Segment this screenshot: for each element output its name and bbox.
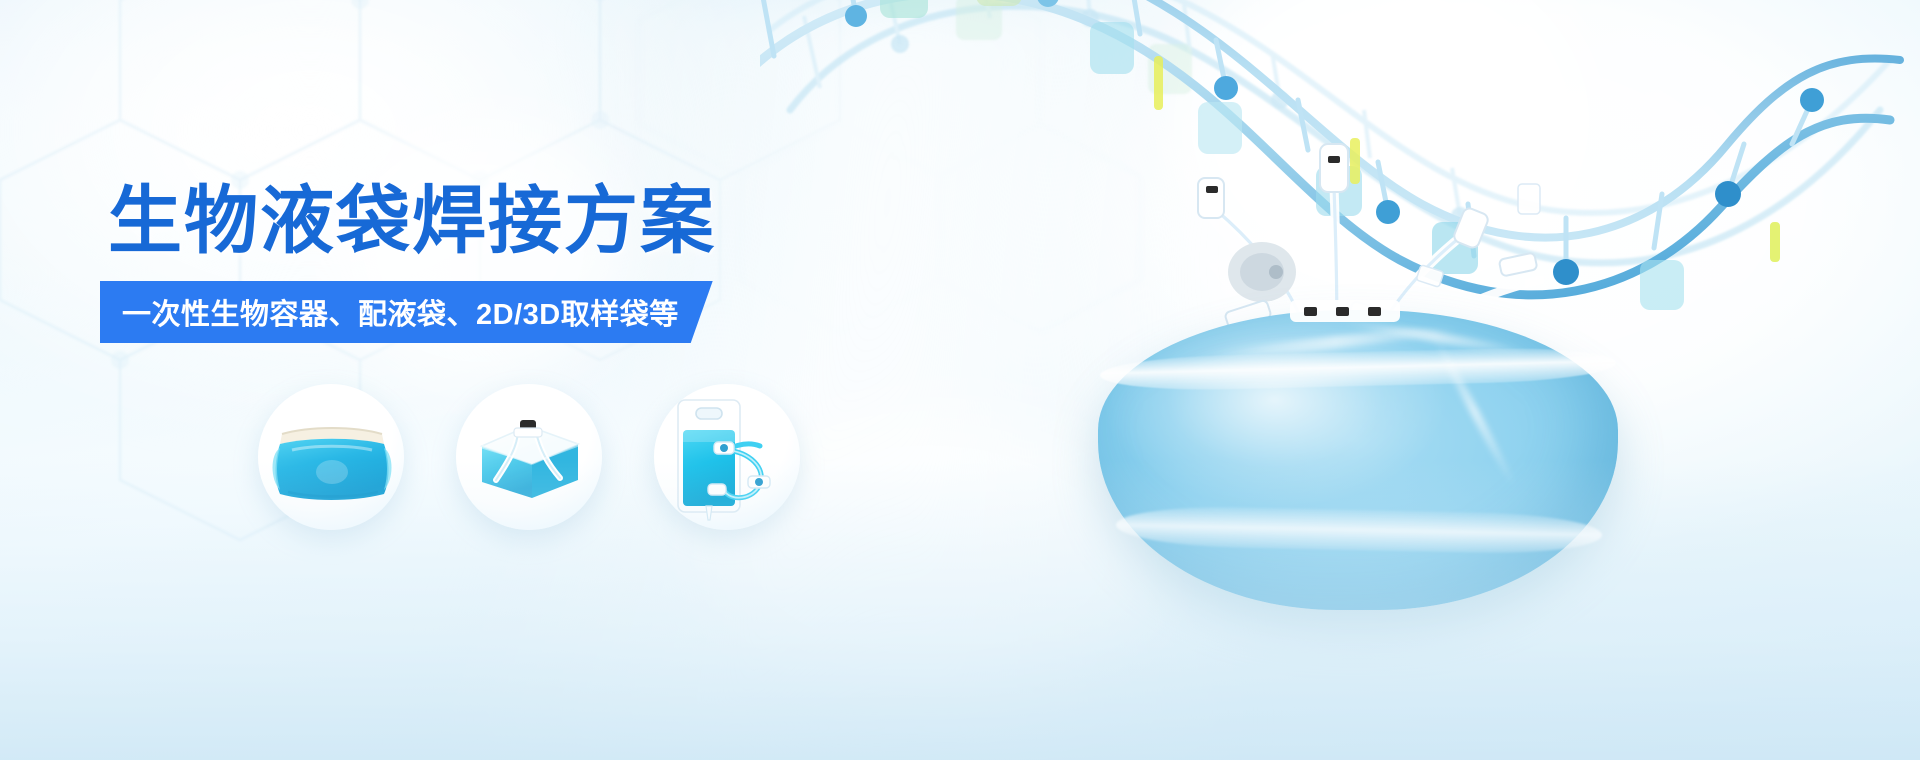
subtitle-ribbon: 一次性生物容器、配液袋、2D/3D取样袋等: [100, 281, 713, 343]
hero-banner: 生物液袋焊接方案 一次性生物容器、配液袋、2D/3D取样袋等: [0, 0, 1920, 760]
bag-top-port-icon: [1270, 290, 1420, 326]
background-bottom-wash: [0, 460, 1920, 760]
page-title: 生物液袋焊接方案: [108, 184, 716, 258]
